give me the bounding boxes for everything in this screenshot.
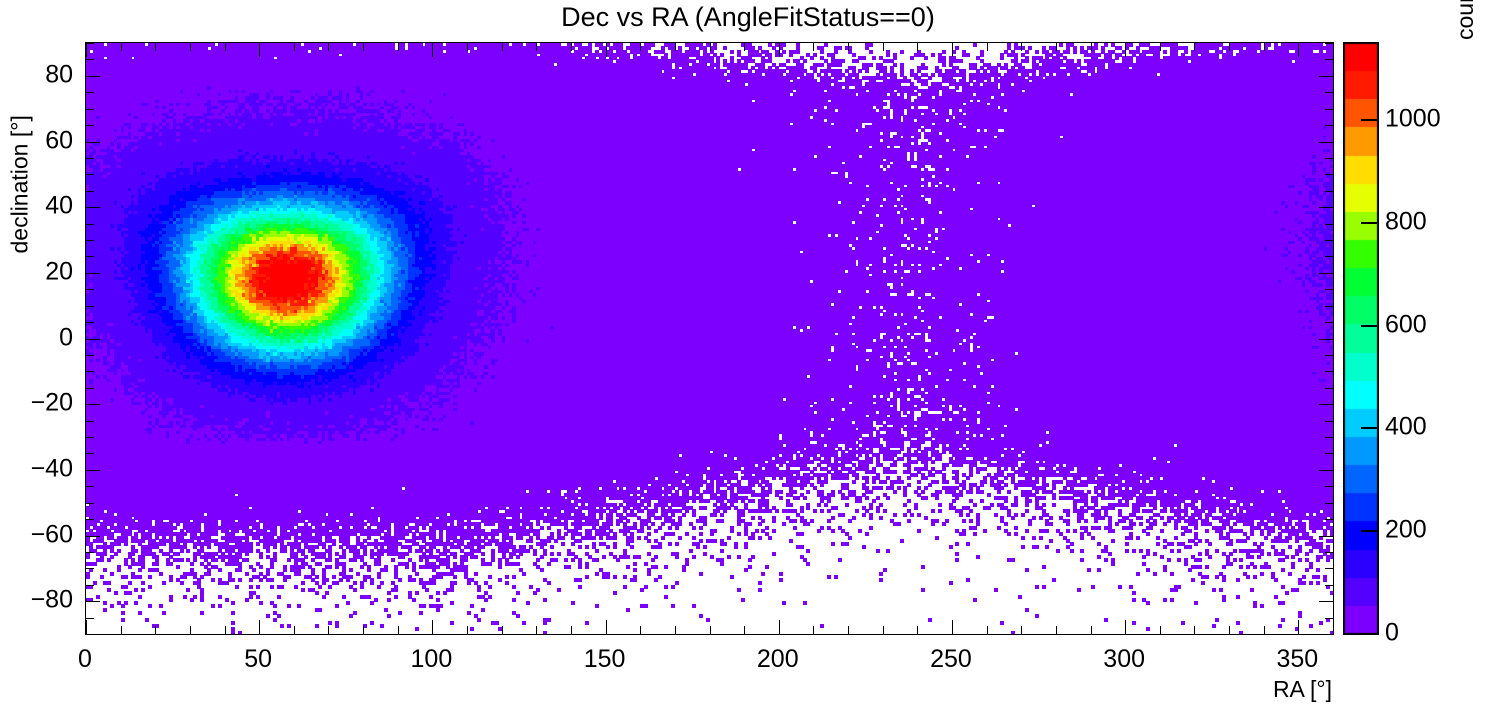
y-tick-minor-right (1325, 437, 1333, 438)
y-tick-major (86, 601, 100, 602)
x-tick-minor (121, 626, 122, 634)
x-tick-minor (536, 626, 537, 634)
colorbar-tick-label: 1000 (1385, 105, 1441, 134)
x-tick-minor-top (155, 43, 156, 51)
y-tick-minor (86, 92, 94, 93)
x-tick-minor-top (813, 43, 814, 51)
y-tick-major-right (1319, 273, 1333, 274)
x-tick-minor (502, 626, 503, 634)
y-tick-minor (86, 306, 94, 307)
y-tick-minor (86, 322, 94, 323)
y-tick-minor-right (1325, 634, 1333, 635)
y-tick-minor-right (1325, 486, 1333, 487)
x-tick-minor-top (467, 43, 468, 51)
x-tick-minor (363, 626, 364, 634)
x-tick-major (432, 620, 433, 634)
x-tick-minor-top (710, 43, 711, 51)
x-tick-major-top (606, 43, 607, 57)
colorbar-tick (1361, 325, 1377, 327)
x-tick-minor (225, 626, 226, 634)
y-tick-minor-right (1325, 125, 1333, 126)
y-tick-minor-right (1325, 158, 1333, 159)
y-tick-label: −40 (9, 454, 73, 483)
x-tick-minor-top (640, 43, 641, 51)
y-tick-minor-right (1325, 355, 1333, 356)
x-tick-major-top (432, 43, 433, 57)
colorbar-tick-label: 600 (1385, 310, 1427, 339)
y-tick-minor-right (1325, 59, 1333, 60)
colorbar-tick-label: 200 (1385, 516, 1427, 545)
y-tick-minor-right (1325, 552, 1333, 553)
x-tick-minor (467, 626, 468, 634)
x-tick-minor-top (121, 43, 122, 51)
x-tick-label: 150 (584, 645, 626, 674)
x-tick-minor (294, 626, 295, 634)
x-tick-minor (744, 626, 745, 634)
x-tick-label: 50 (244, 645, 272, 674)
x-tick-minor-top (190, 43, 191, 51)
x-tick-major-top (1298, 43, 1299, 57)
x-tick-minor (1091, 626, 1092, 634)
colorbar-tick (1361, 119, 1377, 121)
y-tick-minor-right (1325, 618, 1333, 619)
y-tick-minor-right (1325, 109, 1333, 110)
y-tick-minor-right (1325, 92, 1333, 93)
x-tick-label: 100 (411, 645, 453, 674)
y-tick-minor (86, 552, 94, 553)
colorbar-tick (1361, 633, 1377, 635)
x-tick-minor-top (328, 43, 329, 51)
y-tick-major-right (1319, 404, 1333, 405)
y-tick-major (86, 536, 100, 537)
y-tick-minor (86, 158, 94, 159)
x-tick-major-top (952, 43, 953, 57)
y-tick-major-right (1319, 601, 1333, 602)
y-tick-major (86, 273, 100, 274)
y-tick-minor (86, 256, 94, 257)
x-tick-minor (328, 626, 329, 634)
y-tick-major (86, 470, 100, 471)
x-tick-minor-top (1194, 43, 1195, 51)
y-tick-minor-right (1325, 306, 1333, 307)
y-tick-major-right (1319, 207, 1333, 208)
y-tick-minor (86, 43, 94, 44)
x-tick-minor-top (363, 43, 364, 51)
colorbar-tick (1361, 222, 1377, 224)
y-tick-minor (86, 59, 94, 60)
x-tick-minor (1333, 626, 1334, 634)
x-tick-major (779, 620, 780, 634)
x-tick-minor (675, 626, 676, 634)
colorbar-tick-label: 0 (1385, 619, 1399, 648)
x-tick-minor-top (398, 43, 399, 51)
x-tick-minor-top (883, 43, 884, 51)
y-tick-minor-right (1325, 585, 1333, 586)
colorbar-tick (1361, 427, 1377, 429)
y-tick-minor (86, 618, 94, 619)
y-tick-minor (86, 125, 94, 126)
y-tick-major-right (1319, 339, 1333, 340)
y-tick-minor (86, 371, 94, 372)
x-tick-major (86, 620, 87, 634)
x-tick-label: 0 (78, 645, 92, 674)
y-tick-major (86, 404, 100, 405)
x-tick-major (1298, 620, 1299, 634)
x-tick-major-top (259, 43, 260, 57)
x-tick-minor (1229, 626, 1230, 634)
x-tick-minor-top (848, 43, 849, 51)
x-tick-major (259, 620, 260, 634)
x-tick-minor (190, 626, 191, 634)
y-tick-minor (86, 437, 94, 438)
x-tick-minor-top (1091, 43, 1092, 51)
y-tick-minor-right (1325, 224, 1333, 225)
y-tick-minor (86, 355, 94, 356)
y-tick-major (86, 76, 100, 77)
y-tick-label: −20 (9, 389, 73, 418)
y-tick-major (86, 142, 100, 143)
x-tick-minor-top (294, 43, 295, 51)
x-tick-minor (883, 626, 884, 634)
x-tick-minor-top (1160, 43, 1161, 51)
histogram-surface[interactable] (86, 43, 1333, 634)
x-tick-minor-top (502, 43, 503, 51)
colorbar-title: count (1452, 0, 1479, 40)
x-tick-minor-top (1056, 43, 1057, 51)
y-tick-label: −80 (9, 586, 73, 615)
y-tick-minor-right (1325, 43, 1333, 44)
x-tick-minor-top (675, 43, 676, 51)
y-tick-major-right (1319, 536, 1333, 537)
x-tick-minor (1264, 626, 1265, 634)
y-tick-minor (86, 224, 94, 225)
y-tick-minor-right (1325, 453, 1333, 454)
y-tick-minor (86, 289, 94, 290)
y-tick-label: −60 (9, 520, 73, 549)
x-tick-minor-top (917, 43, 918, 51)
x-tick-minor (848, 626, 849, 634)
x-tick-minor (571, 626, 572, 634)
x-tick-label: 300 (1103, 645, 1145, 674)
x-tick-major (952, 620, 953, 634)
x-tick-minor (155, 626, 156, 634)
x-tick-label: 200 (757, 645, 799, 674)
y-tick-minor (86, 388, 94, 389)
x-tick-minor-top (987, 43, 988, 51)
y-tick-minor-right (1325, 388, 1333, 389)
x-tick-minor-top (571, 43, 572, 51)
y-tick-minor-right (1325, 240, 1333, 241)
x-tick-label: 350 (1277, 645, 1319, 674)
y-tick-minor-right (1325, 421, 1333, 422)
y-tick-minor (86, 453, 94, 454)
y-tick-major-right (1319, 470, 1333, 471)
y-tick-minor-right (1325, 174, 1333, 175)
x-tick-minor (1056, 626, 1057, 634)
y-tick-minor (86, 191, 94, 192)
x-tick-minor (813, 626, 814, 634)
x-tick-major (1125, 620, 1126, 634)
colorbar-tick-label: 800 (1385, 207, 1427, 236)
x-axis-title: RA [°] (1273, 676, 1332, 703)
y-tick-minor (86, 503, 94, 504)
y-tick-minor (86, 519, 94, 520)
x-tick-minor (1160, 626, 1161, 634)
x-tick-minor-top (1021, 43, 1022, 51)
x-tick-major-top (779, 43, 780, 57)
colorbar-gradient (1343, 42, 1379, 635)
y-tick-minor-right (1325, 322, 1333, 323)
x-tick-minor (640, 626, 641, 634)
y-tick-label: 0 (9, 323, 73, 352)
x-tick-major-top (86, 43, 87, 57)
y-tick-minor (86, 421, 94, 422)
y-tick-minor-right (1325, 256, 1333, 257)
x-tick-minor-top (536, 43, 537, 51)
y-tick-major (86, 339, 100, 340)
y-tick-minor-right (1325, 568, 1333, 569)
x-tick-major-top (1125, 43, 1126, 57)
y-tick-minor (86, 634, 94, 635)
colorbar-tick-label: 400 (1385, 413, 1427, 442)
y-tick-minor (86, 486, 94, 487)
y-tick-label: 20 (9, 257, 73, 286)
y-tick-minor-right (1325, 503, 1333, 504)
x-tick-minor-top (1264, 43, 1265, 51)
x-tick-minor (1194, 626, 1195, 634)
y-tick-minor (86, 585, 94, 586)
y-tick-minor (86, 240, 94, 241)
y-tick-minor-right (1325, 371, 1333, 372)
colorbar[interactable] (1343, 42, 1377, 633)
x-tick-minor (710, 626, 711, 634)
y-tick-minor-right (1325, 289, 1333, 290)
y-tick-minor-right (1325, 519, 1333, 520)
plot-frame (85, 42, 1334, 635)
x-tick-minor (1021, 626, 1022, 634)
colorbar-tick (1361, 530, 1377, 532)
y-tick-major-right (1319, 76, 1333, 77)
x-tick-minor (398, 626, 399, 634)
x-tick-minor-top (744, 43, 745, 51)
page-title: Dec vs RA (AngleFitStatus==0) (0, 2, 1496, 33)
x-tick-minor-top (1229, 43, 1230, 51)
x-tick-label: 250 (930, 645, 972, 674)
y-tick-major-right (1319, 142, 1333, 143)
x-tick-minor-top (225, 43, 226, 51)
y-tick-minor-right (1325, 191, 1333, 192)
y-tick-minor (86, 568, 94, 569)
x-tick-minor (917, 626, 918, 634)
x-tick-minor (987, 626, 988, 634)
y-axis-title: declination [°] (7, 74, 34, 254)
y-tick-minor (86, 109, 94, 110)
x-tick-minor-top (1333, 43, 1334, 51)
figure-canvas: Dec vs RA (AngleFitStatus==0) 0501001502… (0, 0, 1496, 722)
y-tick-major (86, 207, 100, 208)
y-tick-minor (86, 174, 94, 175)
x-tick-major (606, 620, 607, 634)
